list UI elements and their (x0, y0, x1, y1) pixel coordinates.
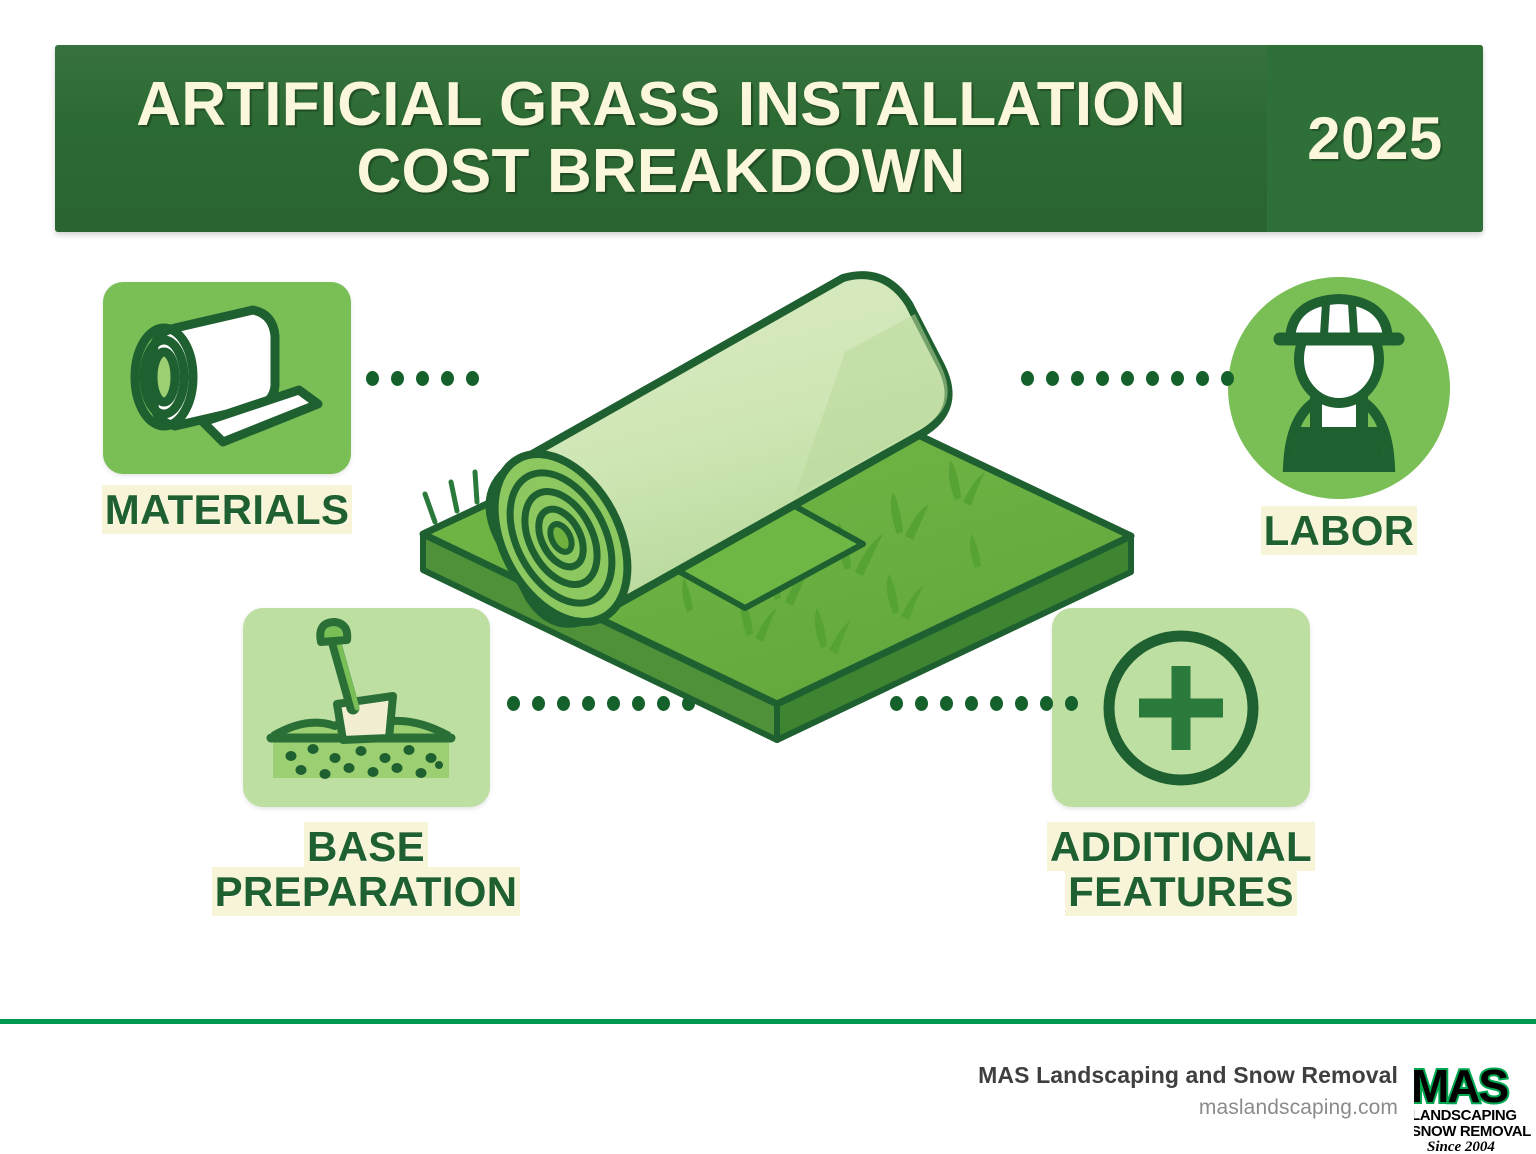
page-title-text: ARTIFICIAL GRASS INSTALLATION COST BREAK… (71, 72, 1251, 205)
svg-text:Since 2004: Since 2004 (1427, 1139, 1495, 1154)
turf-roll-icon (103, 282, 351, 474)
base-preparation-label: BASE PREPARATION (196, 825, 536, 914)
labor-label: LABOR (1194, 509, 1484, 554)
svg-text:SNOW REMOVAL: SNOW REMOVAL (1414, 1123, 1531, 1140)
construction-worker-icon (1228, 277, 1450, 499)
company-name: MAS Landscaping and Snow Removal (978, 1062, 1398, 1089)
labor-icon-tile (1228, 277, 1450, 499)
materials-icon-tile (103, 282, 351, 474)
year-label: 2025 (1307, 104, 1442, 173)
turf-roll-illustration (415, 248, 1145, 748)
footer-text-block: MAS Landscaping and Snow Removal masland… (978, 1062, 1398, 1120)
category-materials[interactable]: MATERIALS (62, 282, 392, 533)
company-website[interactable]: maslandscaping.com (978, 1096, 1398, 1120)
footer: MAS Landscaping and Snow Removal masland… (0, 1024, 1536, 1154)
svg-text:LANDSCAPING: LANDSCAPING (1414, 1107, 1517, 1124)
year-panel: 2025 (1267, 45, 1483, 232)
svg-text:MAS: MAS (1414, 1060, 1508, 1112)
page-title: ARTIFICIAL GRASS INSTALLATION COST BREAK… (55, 45, 1267, 232)
additional-features-label: ADDITIONAL FEATURES (1006, 825, 1356, 914)
mas-landscaping-logo[interactable]: MAS LANDSCAPING SNOW REMOVAL Since 2004 (1414, 1058, 1536, 1154)
category-labor[interactable]: LABOR (1194, 277, 1484, 554)
header-banner: ARTIFICIAL GRASS INSTALLATION COST BREAK… (55, 45, 1483, 232)
materials-label: MATERIALS (62, 488, 392, 533)
